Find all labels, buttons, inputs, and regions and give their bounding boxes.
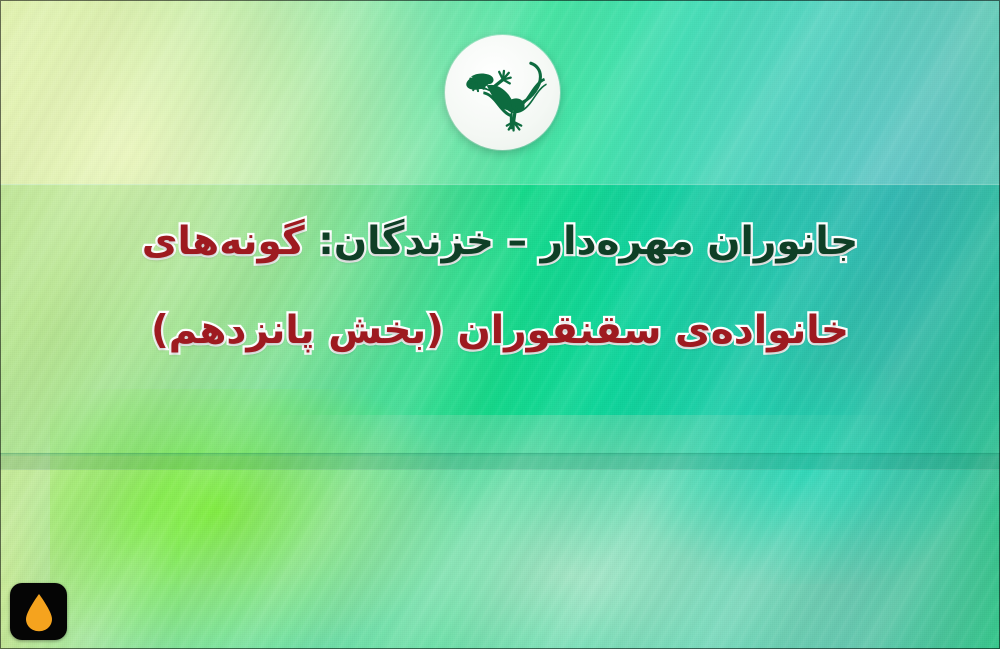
- title-line-1: جانوران مهره‌دار – خزندگان: گونه‌های: [0, 222, 1000, 261]
- gecko-lizard-icon: [455, 45, 551, 141]
- logo-circle-badge: [445, 35, 560, 150]
- title-line-1-red-segment: گونه‌های: [142, 219, 305, 264]
- band-divider-rule: [0, 453, 1000, 470]
- title-line-1-green-segment: جانوران مهره‌دار – خزندگان:: [318, 219, 858, 264]
- title-card-slide: جانوران مهره‌دار – خزندگان: گونه‌های خان…: [0, 0, 1000, 649]
- title-line-2-red-segment: خانواده‌ی سقنقوران (بخش پانزدهم): [151, 308, 849, 353]
- water-droplet-icon: [22, 592, 56, 632]
- logo: [445, 35, 560, 150]
- slide-title: جانوران مهره‌دار – خزندگان: گونه‌های خان…: [0, 222, 1000, 350]
- title-line-2: خانواده‌ی سقنقوران (بخش پانزدهم): [0, 311, 1000, 350]
- watermark-badge: [10, 583, 67, 640]
